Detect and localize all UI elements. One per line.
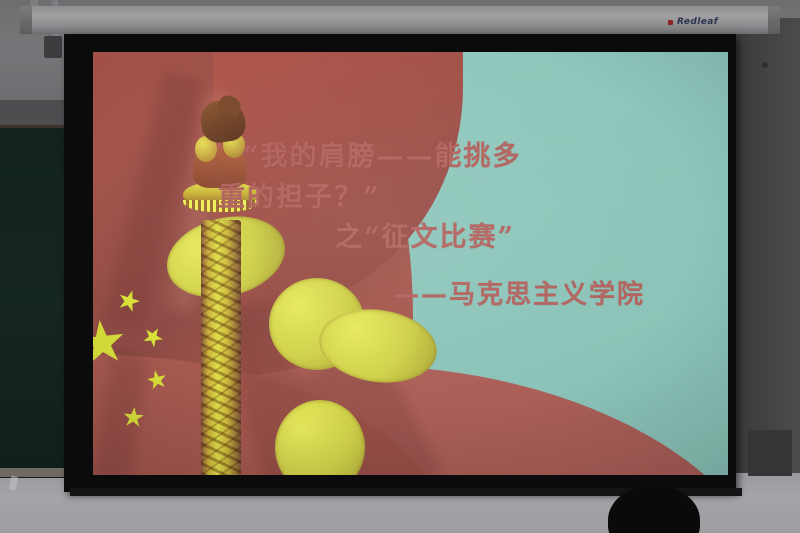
red-square-icon [668,20,673,25]
slide-text-block: “我的肩膀——能挑多 重的担子？” 之“征文比赛” ——马克思主义学院 [93,52,728,475]
brand-badge: Redleaf [668,17,718,27]
wall-right-panel [735,18,800,488]
housing-endcap-left [20,6,32,34]
screen-mount-foot [44,36,62,58]
projector-screen-housing[interactable]: Redleaf [20,6,780,34]
housing-endcap-right [768,6,780,34]
slide-line-2: 重的担子？” [218,175,381,214]
slide-line-1: “我的肩膀——能挑多 [243,134,522,173]
slide-line-3: 之“征文比赛” [335,215,515,254]
wall-fixture [748,430,792,476]
slide-canvas: “我的肩膀——能挑多 重的担子？” 之“征文比赛” ——马克思主义学院 [93,52,728,475]
wall-screw-icon [762,62,768,68]
projected-slide: “我的肩膀——能挑多 重的担子？” 之“征文比赛” ——马克思主义学院 [93,52,728,475]
brand-label: Redleaf [677,17,718,27]
classroom-scene: Redleaf [0,0,800,533]
slide-attribution: ——马克思主义学院 [393,274,645,311]
